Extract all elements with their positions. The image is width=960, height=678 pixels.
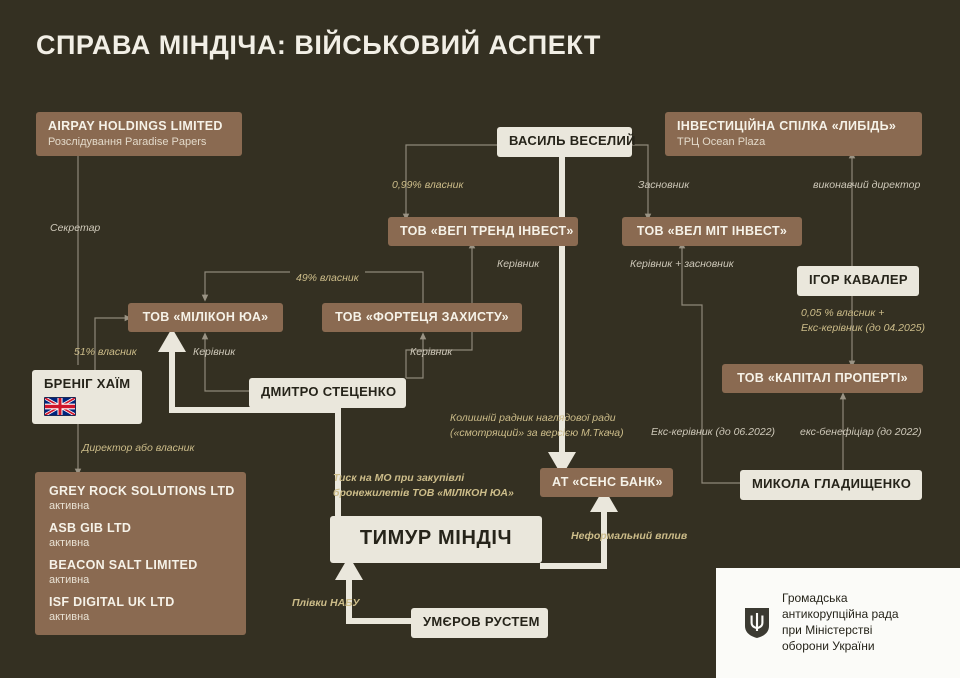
node-ihor-kavaler[interactable]: ІГОР КАВАЛЕР: [797, 266, 919, 296]
company-name: BEACON SALT LIMITED: [49, 558, 232, 572]
company-status: активна: [49, 611, 232, 623]
node-fortetsia-zakhystu[interactable]: ТОВ «ФОРТЕЦЯ ЗАХИСТУ»: [322, 303, 522, 332]
logo-line-4: оборони України: [782, 639, 899, 655]
node-airpay-holdings[interactable]: AIRPAY HOLDINGS LIMITED Розслідування Pa…: [36, 112, 242, 156]
list-item: BEACON SALT LIMITED активна: [49, 558, 232, 586]
node-milikon-yua[interactable]: ТОВ «МІЛІКОН ЮА»: [128, 303, 283, 332]
logo-text: Громадська антикорупційна рада при Мініс…: [782, 591, 899, 654]
edge-label-dyrektor-abo-vlasnyk: Директор або власник: [82, 441, 194, 455]
node-tymur-mindich[interactable]: ТИМУР МІНДІЧ: [330, 516, 542, 563]
edge-label-vykonavchyi-dyrektor: виконавчий директор: [813, 178, 920, 192]
company-status: активна: [49, 537, 232, 549]
logo-line-3: при Міністерстві: [782, 623, 899, 639]
edge-label-sekretar: Секретар: [50, 221, 100, 235]
node-mykola-hladyshchenko[interactable]: МИКОЛА ГЛАДИЩЕНКО: [740, 470, 922, 500]
node-investytsiina-spilka-lybid[interactable]: ІНВЕСТИЦІЙНА СПІЛКА «ЛИБІДЬ» ТРЦ Ocean P…: [665, 112, 922, 156]
edge-label-eks-kerivnyk-06-2022: Екс-керівник (до 06.2022): [651, 425, 775, 439]
node-title: ТИМУР МІНДІЧ: [348, 527, 524, 550]
edge-label-kerivnyk-vegi: Керівник: [497, 257, 539, 271]
edge-label-tysk-1: Тиск на МО при закупівлі: [333, 471, 464, 485]
edge-label-kerivnyk-milikon: Керівник: [193, 345, 235, 359]
edge-label-owner-0-99: 0,99% власник: [392, 178, 463, 192]
edge-label-owner-51: 51% власник: [74, 345, 137, 359]
uk-companies-stack[interactable]: GREY ROCK SOLUTIONS LTD активна ASB GIB …: [35, 472, 246, 635]
node-title: МИКОЛА ГЛАДИЩЕНКО: [752, 477, 910, 492]
edge-label-tysk-2: бронежилетів ТОВ «МІЛІКОН ЮА»: [333, 486, 514, 500]
node-kapital-properti[interactable]: ТОВ «КАПІТАЛ ПРОПЕРТІ»: [722, 364, 923, 393]
node-title: ІНВЕСТИЦІЙНА СПІЛКА «ЛИБІДЬ»: [677, 119, 910, 133]
node-title: БРЕНІГ ХАЇМ: [44, 377, 130, 392]
node-title: ДМИТРО СТЕЦЕНКО: [261, 385, 394, 400]
company-status: активна: [49, 500, 232, 512]
edge-label-kerivnyk-fortetsia: Керівник: [410, 345, 452, 359]
edge-label-eks-benefitsiar-2022: екс-бенефіціар (до 2022): [800, 425, 922, 439]
node-title: ТОВ «ВЕГІ ТРЕНД ІНВЕСТ»: [400, 224, 566, 238]
company-name: ASB GIB LTD: [49, 521, 232, 535]
edge-label-owner-49: 49% власник: [290, 271, 365, 285]
infographic-canvas: СПРАВА МІНДІЧА: ВІЙСЬКОВИЙ АСПЕКТ AIRPAY…: [0, 0, 960, 678]
node-title: АТ «СЕНС БАНК»: [552, 475, 661, 489]
uk-flag-icon: [44, 397, 76, 416]
trident-shield-icon: [744, 607, 770, 639]
node-title: ТОВ «КАПІТАЛ ПРОПЕРТІ»: [734, 371, 911, 385]
edge-label-zasnovnyk: Засновник: [638, 178, 689, 192]
node-vel-mit-invest[interactable]: ТОВ «ВЕЛ МІТ ІНВЕСТ»: [622, 217, 802, 246]
node-dmytro-stetsenko[interactable]: ДМИТРО СТЕЦЕНКО: [249, 378, 406, 408]
node-sens-bank[interactable]: АТ «СЕНС БАНК»: [540, 468, 673, 497]
node-title: AIRPAY HOLDINGS LIMITED: [48, 119, 230, 133]
edge-label-radnyk-1: Колишній радник наглядової ради: [450, 411, 616, 425]
node-subtitle: ТРЦ Ocean Plaza: [677, 136, 910, 148]
node-vasyl-veselyi[interactable]: ВАСИЛЬ ВЕСЕЛИЙ: [497, 127, 632, 157]
company-name: GREY ROCK SOLUTIONS LTD: [49, 484, 232, 498]
page-title: СПРАВА МІНДІЧА: ВІЙСЬКОВИЙ АСПЕКТ: [36, 30, 601, 61]
logo-line-2: антикорупційна рада: [782, 607, 899, 623]
node-brenig-khaim[interactable]: БРЕНІГ ХАЇМ: [32, 370, 142, 424]
company-name: ISF DIGITAL UK LTD: [49, 595, 232, 609]
company-status: активна: [49, 574, 232, 586]
edge-label-plivky-nabu: Плівки НАБУ: [292, 596, 359, 610]
node-subtitle: Розслідування Paradise Papers: [48, 136, 230, 148]
node-title: ВАСИЛЬ ВЕСЕЛИЙ: [509, 134, 620, 149]
node-title: УМЄРОВ РУСТЕМ: [423, 615, 536, 630]
node-vegi-trend-invest[interactable]: ТОВ «ВЕГІ ТРЕНД ІНВЕСТ»: [388, 217, 578, 246]
node-title: ТОВ «ФОРТЕЦЯ ЗАХИСТУ»: [334, 310, 510, 324]
node-title: ТОВ «ВЕЛ МІТ ІНВЕСТ»: [634, 224, 790, 238]
list-item: ISF DIGITAL UK LTD активна: [49, 595, 232, 623]
list-item: GREY ROCK SOLUTIONS LTD активна: [49, 484, 232, 512]
edge-label-kavaler-note-2: Екс-керівник (до 04.2025): [801, 321, 925, 335]
logo-line-1: Громадська: [782, 591, 899, 607]
edge-label-radnyk-2: («смотрящий» за версією М.Ткача): [450, 426, 624, 440]
node-title: ТОВ «МІЛІКОН ЮА»: [140, 310, 271, 324]
node-title: ІГОР КАВАЛЕР: [809, 273, 907, 288]
list-item: ASB GIB LTD активна: [49, 521, 232, 549]
edge-label-kavaler-note-1: 0,05 % власник +: [801, 306, 884, 320]
edge-label-kerivnyk-zasnovnyk: Керівник + засновник: [630, 257, 734, 271]
edge-label-neformalnyi-vplyv: Неформальний вплив: [571, 529, 687, 543]
node-umerov-rustem[interactable]: УМЄРОВ РУСТЕМ: [411, 608, 548, 638]
organization-logo: Громадська антикорупційна рада при Мініс…: [716, 568, 960, 678]
